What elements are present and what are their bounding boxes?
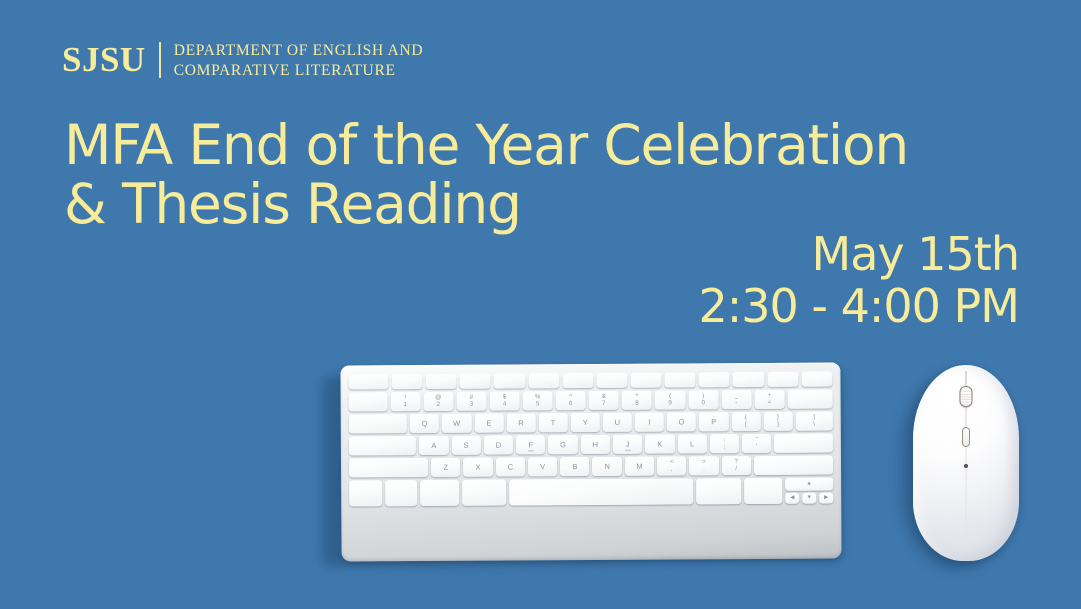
key-tab <box>349 414 407 433</box>
keyboard-number-row: !1 @2 #3 $4 %5 ^6 &7 *8 (9 )0 _- += <box>349 390 833 412</box>
mouse-scroll-wheel <box>960 386 973 407</box>
key-b: B <box>560 457 589 476</box>
mouse-image <box>913 365 1019 561</box>
key-command-right <box>696 478 741 504</box>
key-3: #3 <box>456 392 486 411</box>
event-poster: SJSU DEPARTMENT OF ENGLISH AND COMPARATI… <box>0 0 1081 609</box>
key-k: K <box>645 434 674 453</box>
keyboard-bottom-letter-row: Z X C V B N M <, >. ?/ <box>349 456 833 478</box>
keyboard-function-row <box>348 372 832 390</box>
key-shift-right <box>754 456 833 475</box>
key-p: P <box>699 412 728 431</box>
key-h: H <box>581 435 610 454</box>
key-c: C <box>496 457 525 476</box>
key-9: (9 <box>655 390 685 409</box>
key-r: R <box>506 413 535 432</box>
key-f10 <box>699 372 730 387</box>
event-time: 2:30 - 4:00 PM <box>699 280 1020 332</box>
key-bracket-right: }] <box>763 412 792 431</box>
key-minus: _- <box>721 390 751 409</box>
department-line-1: DEPARTMENT OF ENGLISH AND <box>174 41 424 61</box>
key-control <box>385 480 418 506</box>
keyboard-arrow-cluster: ▲ ◀ ▼ ▶ <box>785 478 833 504</box>
key-backslash: |\ <box>795 412 832 431</box>
key-d: D <box>484 435 513 454</box>
key-slash: ?/ <box>722 456 751 475</box>
key-x: X <box>463 458 492 477</box>
key-tilde <box>349 392 388 411</box>
department-name: DEPARTMENT OF ENGLISH AND COMPARATIVE LI… <box>161 40 424 81</box>
keyboard-image: !1 @2 #3 $4 %5 ^6 &7 *8 (9 )0 _- += Q W … <box>340 362 841 561</box>
key-l: L <box>677 434 706 453</box>
key-f11 <box>733 372 764 387</box>
key-comma: <, <box>657 456 686 475</box>
key-space <box>509 478 693 505</box>
key-y: Y <box>571 413 600 432</box>
key-equals: += <box>754 390 784 409</box>
mouse-indicator-led <box>964 464 968 468</box>
key-g: G <box>548 435 577 454</box>
key-s: S <box>451 436 480 455</box>
key-f2 <box>426 374 457 389</box>
key-f8 <box>630 373 661 388</box>
sjsu-logo: SJSU DEPARTMENT OF ENGLISH AND COMPARATI… <box>62 40 423 81</box>
key-0: )0 <box>688 390 718 409</box>
key-1: !1 <box>390 392 420 411</box>
keyboard-space-row: ▲ ◀ ▼ ▶ <box>349 478 833 507</box>
key-f: F <box>516 435 545 454</box>
key-e: E <box>474 414 503 433</box>
key-fn <box>349 480 382 506</box>
keyboard-top-letter-row: Q W E R T Y U I O P {[ }] |\ <box>349 412 833 434</box>
key-v: V <box>528 457 557 476</box>
logo-divider-rule <box>159 42 161 78</box>
key-arrow-right: ▶ <box>819 493 833 504</box>
sjsu-wordmark: SJSU <box>62 40 159 81</box>
key-z: Z <box>431 458 460 477</box>
key-caps-lock <box>349 436 416 455</box>
key-period: >. <box>689 456 718 475</box>
key-u: U <box>603 413 632 432</box>
key-arrow-down: ▼ <box>802 493 816 504</box>
key-w: W <box>442 414 471 433</box>
key-bracket-left: {[ <box>731 412 760 431</box>
key-shift-left <box>349 458 428 477</box>
key-5: %5 <box>523 391 553 410</box>
key-j: J <box>613 435 642 454</box>
key-o: O <box>667 412 696 431</box>
key-option-right <box>744 478 782 504</box>
department-line-2: COMPARATIVE LITERATURE <box>174 61 424 81</box>
key-7: &7 <box>589 391 619 410</box>
key-t: T <box>538 413 567 432</box>
event-date: May 15th <box>699 228 1020 280</box>
key-semicolon: :; <box>710 434 739 453</box>
event-title-line-2: & Thesis Reading <box>64 175 908 234</box>
event-title-line-1: MFA End of the Year Celebration <box>64 116 908 175</box>
key-quote: "' <box>742 434 771 453</box>
key-n: N <box>592 457 621 476</box>
key-a: A <box>419 436 448 455</box>
key-f3 <box>460 374 491 389</box>
event-title: MFA End of the Year Celebration & Thesis… <box>64 116 908 234</box>
key-f6 <box>562 373 593 388</box>
key-f12 <box>767 372 798 387</box>
key-f4 <box>494 373 525 388</box>
key-i: I <box>635 413 664 432</box>
key-8: *8 <box>622 391 652 410</box>
key-arrow-left: ◀ <box>785 493 799 504</box>
key-option-left <box>420 480 458 506</box>
event-datetime: May 15th 2:30 - 4:00 PM <box>699 228 1020 332</box>
key-eject <box>801 372 832 387</box>
key-f1 <box>391 374 422 389</box>
key-delete <box>787 390 832 409</box>
keyboard-home-row: A S D F G H J K L :; "' <box>349 434 833 456</box>
mouse-side-button <box>962 427 970 447</box>
key-arrow-up: ▲ <box>785 478 833 491</box>
key-m: M <box>625 457 654 476</box>
key-2: @2 <box>423 392 453 411</box>
key-q: Q <box>410 414 439 433</box>
key-f7 <box>596 373 627 388</box>
key-f5 <box>528 373 559 388</box>
key-return <box>774 434 833 453</box>
key-command-left <box>462 480 507 506</box>
key-4: $4 <box>489 391 519 410</box>
key-f9 <box>665 372 696 387</box>
key-6: ^6 <box>556 391 586 410</box>
key-esc <box>348 374 388 389</box>
